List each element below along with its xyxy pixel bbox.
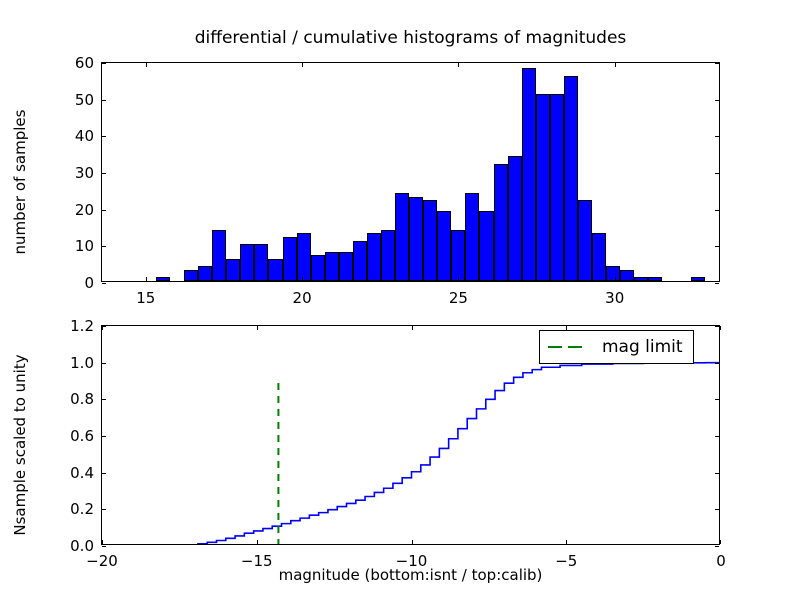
xtick-mark	[257, 326, 258, 330]
histogram-bar	[367, 233, 381, 281]
xtick-mark	[615, 63, 616, 67]
xtick-mark	[458, 63, 459, 67]
legend-dash-segment	[568, 346, 582, 348]
xtick-label: 30	[605, 289, 624, 307]
ytick-mark	[715, 136, 719, 137]
cumulative-histogram-axes: 0.00.20.40.60.81.01.2 −20−15−10−50 Nsamp…	[101, 325, 720, 545]
ytick-label: 20	[56, 201, 94, 219]
matplotlib-figure: differential / cumulative histograms of …	[0, 0, 800, 600]
ytick-mark	[102, 136, 106, 137]
xtick-mark	[720, 540, 721, 544]
histogram-bar	[648, 277, 662, 281]
ytick-label: 50	[56, 91, 94, 109]
histogram-bar	[578, 200, 592, 281]
histogram-bar	[409, 197, 423, 281]
ytick-mark	[715, 100, 719, 101]
cumulative-step-line	[102, 363, 719, 544]
ytick-mark	[715, 509, 719, 510]
histogram-bar	[634, 277, 648, 281]
histogram-bar	[353, 241, 367, 281]
differential-histogram-axes: 0102030405060 15202530 number of samples	[101, 62, 720, 282]
ytick-label: 0.4	[50, 464, 94, 482]
histogram-bar	[381, 230, 395, 281]
ytick-label: 40	[56, 127, 94, 145]
histogram-bar	[283, 237, 297, 281]
ytick-mark	[715, 63, 719, 64]
ytick-label: 1.2	[50, 317, 94, 335]
ytick-mark	[715, 399, 719, 400]
ytick-mark	[715, 173, 719, 174]
xtick-mark	[102, 540, 103, 544]
histogram-bar	[606, 266, 620, 281]
differential-histogram-plot-area	[102, 63, 719, 281]
histogram-bar	[226, 259, 240, 281]
histogram-bar	[268, 259, 282, 281]
histogram-bar	[395, 193, 409, 281]
histogram-bar	[184, 270, 198, 281]
xtick-mark	[302, 277, 303, 281]
ytick-mark	[102, 509, 106, 510]
xtick-label: 25	[449, 289, 468, 307]
xtick-label: 20	[293, 289, 312, 307]
ytick-mark	[102, 436, 106, 437]
xtick-mark	[302, 63, 303, 67]
histogram-bar	[620, 270, 634, 281]
histogram-bar	[156, 277, 170, 281]
ytick-label: 0.8	[50, 390, 94, 408]
ytick-label: 0.6	[50, 427, 94, 445]
ytick-mark	[102, 246, 106, 247]
ytick-label: 0.2	[50, 500, 94, 518]
ytick-mark	[715, 436, 719, 437]
mag-limit-line-swatch-icon	[548, 346, 588, 348]
ytick-mark	[715, 246, 719, 247]
ytick-mark	[102, 63, 106, 64]
ytick-mark	[102, 100, 106, 101]
ytick-mark	[102, 546, 106, 547]
cumulative-histogram-ylabel: Nsample scaled to unity	[11, 325, 29, 565]
histogram-bar	[297, 233, 311, 281]
histogram-bar	[494, 164, 508, 281]
xtick-mark	[720, 326, 721, 330]
histogram-bar	[311, 255, 325, 281]
xtick-mark	[458, 277, 459, 281]
cumulative-histogram-xlabel: magnitude (bottom:isnt / top:calib)	[101, 566, 720, 584]
ytick-mark	[715, 326, 719, 327]
ytick-mark	[715, 546, 719, 547]
histogram-bar	[465, 193, 479, 281]
histogram-bar	[508, 156, 522, 281]
histogram-bar	[451, 230, 465, 281]
histogram-bar	[423, 200, 437, 281]
ytick-mark	[715, 363, 719, 364]
xtick-mark	[146, 63, 147, 67]
histogram-bar	[522, 68, 536, 281]
ytick-mark	[102, 399, 106, 400]
xtick-mark	[412, 540, 413, 544]
xtick-mark	[566, 540, 567, 544]
ytick-mark	[102, 210, 106, 211]
histogram-bar	[479, 211, 493, 281]
histogram-bar	[254, 244, 268, 281]
histogram-bar	[536, 94, 550, 281]
histogram-bar	[550, 94, 564, 281]
ytick-label: 1.0	[50, 354, 94, 372]
histogram-bar	[691, 277, 705, 281]
ytick-label: 60	[56, 54, 94, 72]
ytick-mark	[715, 473, 719, 474]
xtick-mark	[615, 277, 616, 281]
xtick-mark	[146, 277, 147, 281]
legend-dash-segment	[548, 346, 562, 348]
ytick-label: 10	[56, 237, 94, 255]
xtick-mark	[412, 326, 413, 330]
histogram-bar	[592, 233, 606, 281]
histogram-bar	[564, 76, 578, 281]
ytick-mark	[102, 173, 106, 174]
histogram-bar	[212, 230, 226, 281]
histogram-bar	[325, 252, 339, 281]
histogram-bar	[437, 211, 451, 281]
differential-histogram-ylabel: number of samples	[11, 62, 29, 302]
histogram-bar	[339, 252, 353, 281]
xtick-mark	[257, 540, 258, 544]
ytick-label: 0	[56, 274, 94, 292]
ytick-mark	[102, 363, 106, 364]
legend-label-mag-limit: mag limit	[602, 337, 683, 357]
figure-title: differential / cumulative histograms of …	[101, 28, 720, 48]
ytick-label: 30	[56, 164, 94, 182]
histogram-bar	[240, 244, 254, 281]
legend: mag limit	[539, 330, 694, 364]
ytick-mark	[715, 283, 719, 284]
ytick-mark	[102, 283, 106, 284]
ytick-mark	[102, 473, 106, 474]
ytick-mark	[102, 326, 106, 327]
ytick-mark	[715, 210, 719, 211]
xtick-label: 15	[136, 289, 155, 307]
histogram-bar	[198, 266, 212, 281]
